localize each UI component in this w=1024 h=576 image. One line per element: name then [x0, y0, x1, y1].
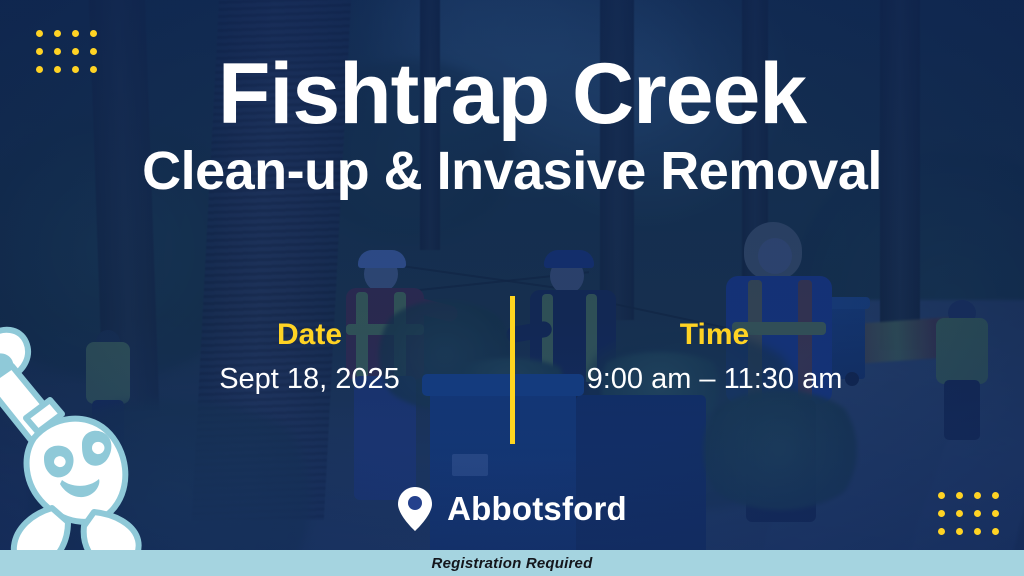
poster-heading: Fishtrap Creek Clean-up & Invasive Remov…: [0, 52, 1024, 199]
date-value: Sept 18, 2025: [140, 362, 480, 397]
registration-note: Registration Required: [432, 555, 593, 572]
time-label: Time: [545, 318, 885, 353]
event-poster: Fishtrap Creek Clean-up & Invasive Remov…: [0, 0, 1024, 576]
dot: [54, 30, 61, 37]
date-block: Date Sept 18, 2025: [140, 318, 480, 396]
poster-title: Fishtrap Creek: [0, 52, 1024, 136]
dot: [90, 30, 97, 37]
map-pin-icon: [397, 486, 433, 532]
event-details: Date Sept 18, 2025 Time 9:00 am – 11:30 …: [0, 318, 1024, 444]
poster-subtitle: Clean-up & Invasive Removal: [0, 144, 1024, 199]
dot: [72, 30, 79, 37]
time-block: Time 9:00 am – 11:30 am: [545, 318, 885, 396]
dot: [36, 30, 43, 37]
vertical-divider: [510, 296, 515, 444]
time-value: 9:00 am – 11:30 am: [545, 362, 885, 397]
date-label: Date: [140, 318, 480, 353]
footer-bar: Registration Required: [0, 550, 1024, 576]
location-name: Abbotsford: [447, 490, 627, 528]
location-block: Abbotsford: [0, 486, 1024, 532]
